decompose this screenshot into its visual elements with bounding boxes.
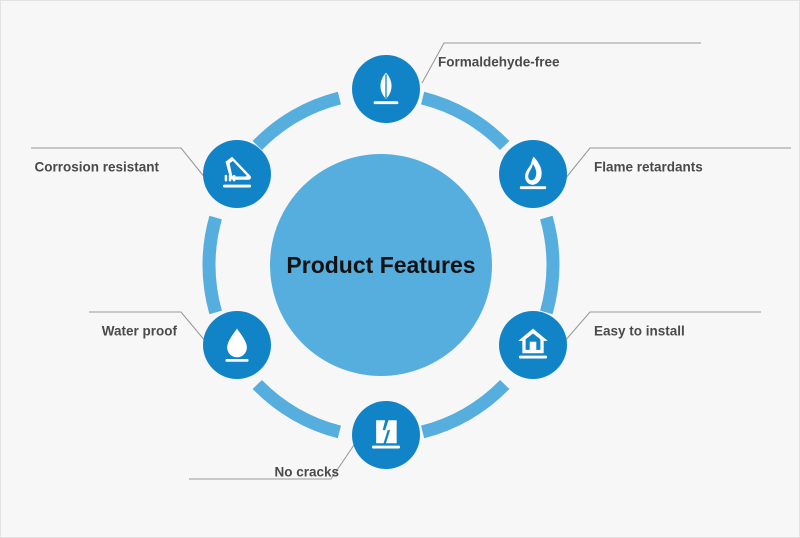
acid-drip-1 (229, 175, 231, 182)
icon-base-line (520, 186, 546, 189)
ring-arc-segment (546, 218, 553, 313)
feature-node-flame-retardants[interactable] (499, 140, 567, 208)
feature-node-formaldehyde-free[interactable] (352, 55, 420, 123)
icon-base-line (372, 446, 400, 449)
feature-label-easy-to-install: Easy to install (594, 324, 685, 339)
icon-base-line (223, 185, 251, 188)
icon-base-line (226, 359, 249, 362)
product-features-wheel: Product Features Formaldehyde-freeFlame … (1, 1, 800, 538)
acid-drip-2 (233, 175, 235, 182)
feature-label-no-cracks: No cracks (274, 465, 339, 480)
feature-node-water-proof[interactable] (203, 311, 271, 379)
feature-label-flame-retardants: Flame retardants (594, 160, 703, 175)
house-door (530, 342, 537, 350)
acid-drip-0 (225, 175, 227, 182)
feature-diagram-canvas: Product Features Formaldehyde-freeFlame … (0, 0, 800, 538)
feature-label-corrosion-resistant: Corrosion resistant (34, 160, 159, 175)
feature-node-easy-to-install[interactable] (499, 311, 567, 379)
center-hub: Product Features (270, 154, 492, 376)
icon-base-line (519, 356, 547, 359)
feature-node-no-cracks[interactable] (352, 401, 420, 469)
feature-label-water-proof: Water proof (102, 324, 178, 339)
feature-label-formaldehyde-free: Formaldehyde-free (438, 55, 560, 70)
icon-base-line (374, 101, 399, 104)
ring-arc-segment (209, 218, 216, 313)
feature-node-corrosion-resistant[interactable] (203, 140, 271, 208)
ring-arc-segment (257, 98, 339, 145)
ring-arc-segment (257, 384, 339, 431)
ring-arc-segment (423, 384, 505, 431)
ring-arc-segment (423, 98, 505, 145)
page-title: Product Features (286, 252, 475, 278)
